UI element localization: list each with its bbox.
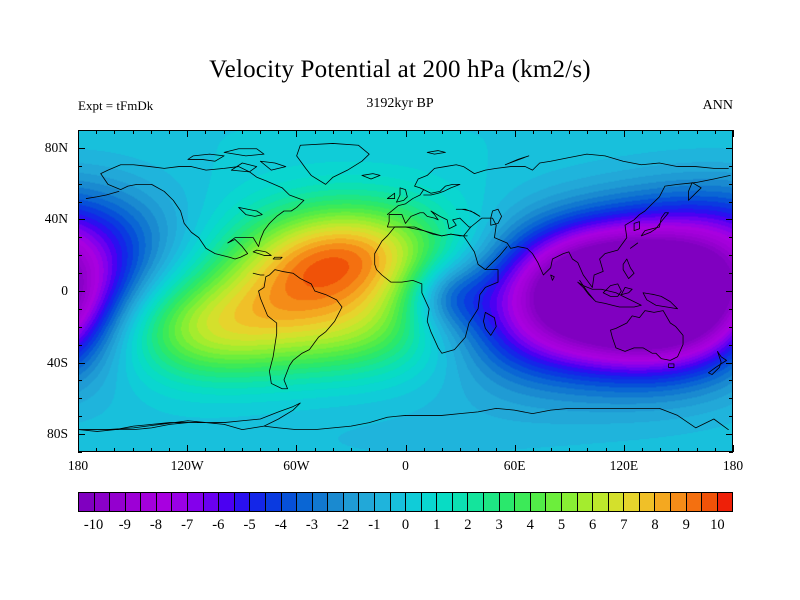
axis-tick	[78, 398, 82, 399]
axis-tick	[78, 184, 82, 185]
axis-tick	[187, 130, 188, 137]
colorbar-tick-label: 0	[402, 517, 409, 534]
axis-tick	[333, 130, 334, 134]
colorbar-cell	[671, 493, 687, 511]
x-axis-label: 60W	[283, 458, 309, 474]
axis-tick	[96, 448, 97, 452]
coastline-path	[491, 209, 502, 225]
axis-tick	[729, 416, 733, 417]
y-axis-label: 0	[16, 283, 68, 299]
coastline-path	[551, 275, 555, 280]
axis-tick	[697, 448, 698, 452]
axis-tick	[278, 448, 279, 452]
axis-tick	[697, 130, 698, 134]
coastline-path	[239, 207, 263, 216]
colorbar-cell	[687, 493, 703, 511]
colorbar-cell	[422, 493, 438, 511]
colorbar-cell	[437, 493, 453, 511]
axis-tick	[114, 130, 115, 134]
axis-tick	[569, 130, 570, 134]
x-axis-label: 180	[723, 458, 743, 474]
axis-tick	[587, 448, 588, 452]
coastline-path	[688, 183, 701, 201]
coastline-path	[273, 257, 282, 259]
coastline-path	[362, 174, 380, 179]
axis-tick	[733, 445, 734, 452]
coastline-path	[641, 213, 668, 236]
axis-tick	[387, 448, 388, 452]
coastline-path	[79, 408, 728, 429]
y-axis-label: 80N	[16, 140, 68, 156]
colorbar-tick-label: 6	[589, 517, 596, 534]
colorbar-cell	[282, 493, 298, 511]
axis-tick	[78, 202, 82, 203]
axis-tick	[78, 327, 82, 328]
axis-tick	[78, 445, 79, 452]
axis-tick	[205, 448, 206, 452]
axis-tick	[78, 363, 85, 364]
axis-tick	[114, 448, 115, 452]
axis-tick	[151, 130, 152, 134]
colorbar-cell	[406, 493, 422, 511]
axis-tick	[551, 130, 552, 134]
colorbar-cell	[515, 493, 531, 511]
axis-tick	[715, 130, 716, 134]
colorbar-cell	[79, 493, 95, 511]
colorbar-cell	[250, 493, 266, 511]
colorbar-cell	[640, 493, 656, 511]
axis-tick	[78, 309, 82, 310]
colorbar-tick-label: 9	[683, 517, 690, 534]
colorbar-cell	[655, 493, 671, 511]
colorbar-tick-label: -4	[275, 517, 287, 534]
axis-tick	[187, 445, 188, 452]
colorbar-cell	[313, 493, 329, 511]
axis-tick	[729, 166, 733, 167]
coastline-path	[630, 243, 637, 248]
axis-tick	[78, 166, 82, 167]
axis-tick	[224, 448, 225, 452]
axis-tick	[242, 130, 243, 134]
colorbar-cell	[266, 493, 282, 511]
colorbar-cell	[546, 493, 562, 511]
colorbar-cell	[609, 493, 625, 511]
axis-tick	[624, 130, 625, 137]
coastline-path	[580, 280, 594, 299]
colorbar-tick-label: -6	[212, 517, 224, 534]
colorbar-cell	[219, 493, 235, 511]
axis-tick	[606, 448, 607, 452]
colorbar-cell	[359, 493, 375, 511]
axis-tick	[78, 291, 85, 292]
axis-tick	[133, 130, 134, 134]
axis-tick	[369, 130, 370, 134]
coastline-path	[253, 250, 271, 255]
axis-tick	[678, 130, 679, 134]
coastline-path	[708, 351, 726, 374]
axis-tick	[726, 363, 733, 364]
axis-tick	[729, 380, 733, 381]
x-axis-label: 120E	[610, 458, 639, 474]
axis-tick	[351, 130, 352, 134]
axis-tick	[533, 130, 534, 134]
x-axis-label: 120W	[171, 458, 204, 474]
axis-tick	[715, 448, 716, 452]
axis-tick	[351, 448, 352, 452]
axis-tick	[442, 130, 443, 134]
x-axis-label: 180	[68, 458, 88, 474]
axis-tick	[587, 130, 588, 134]
axis-tick	[606, 130, 607, 134]
coastline-path	[101, 165, 304, 259]
axis-tick	[333, 448, 334, 452]
axis-tick	[406, 445, 407, 452]
axis-tick	[642, 130, 643, 134]
colorbar-tick-label: -5	[244, 517, 256, 534]
coastline-overlay	[79, 131, 732, 451]
map-plot-area	[78, 130, 733, 452]
axis-tick	[729, 237, 733, 238]
axis-tick	[133, 448, 134, 452]
axis-tick	[496, 448, 497, 452]
y-axis-label: 80S	[16, 426, 68, 442]
axis-tick	[551, 448, 552, 452]
colorbar-cell	[110, 493, 126, 511]
axis-tick	[515, 130, 516, 137]
colorbar-cell	[157, 493, 173, 511]
axis-tick	[729, 184, 733, 185]
colorbar-cell	[500, 493, 516, 511]
axis-tick	[515, 445, 516, 452]
coastline-path	[387, 193, 394, 198]
coastline-path	[79, 403, 300, 431]
colorbar-tick-label: -1	[368, 517, 380, 534]
season-label: ANN	[703, 98, 733, 114]
coastline-path	[253, 273, 264, 275]
axis-tick	[460, 448, 461, 452]
axis-tick	[406, 130, 407, 137]
colorbar-cell	[328, 493, 344, 511]
colorbar-tick-label: -9	[119, 517, 131, 534]
colorbar-tick-label: -7	[181, 517, 193, 534]
axis-tick	[729, 345, 733, 346]
coastline-path	[188, 154, 224, 161]
axis-tick	[205, 130, 206, 134]
colorbar-cell	[391, 493, 407, 511]
axis-tick	[624, 445, 625, 452]
axis-tick	[569, 448, 570, 452]
colorbar-tick-label: -10	[84, 517, 103, 534]
colorbar-cell	[344, 493, 360, 511]
axis-tick	[660, 448, 661, 452]
colorbar-tick-label: -8	[150, 517, 162, 534]
coastline-path	[259, 270, 342, 389]
colorbar-tick-label: -3	[306, 517, 318, 534]
axis-tick	[78, 380, 82, 381]
axis-tick	[96, 130, 97, 134]
coastline-path	[483, 312, 496, 335]
axis-tick	[78, 130, 82, 131]
axis-tick	[478, 448, 479, 452]
colorbar-cell	[562, 493, 578, 511]
axis-tick	[369, 448, 370, 452]
axis-tick	[151, 448, 152, 452]
colorbar-tick-label: 10	[710, 517, 725, 534]
colorbar-tick-label: 8	[651, 517, 658, 534]
coastline-path	[610, 311, 683, 361]
axis-tick	[726, 291, 733, 292]
axis-tick	[296, 130, 297, 137]
axis-tick	[729, 202, 733, 203]
coastline-path	[224, 149, 264, 156]
axis-tick	[729, 452, 733, 453]
axis-tick	[642, 448, 643, 452]
colorbar-tick-label: 2	[464, 517, 471, 534]
axis-tick	[296, 445, 297, 452]
coastline-path	[668, 364, 673, 368]
coastline-path	[485, 247, 507, 270]
axis-tick	[315, 130, 316, 134]
colorbar-cell	[126, 493, 142, 511]
axis-tick	[726, 219, 733, 220]
axis-tick	[478, 130, 479, 134]
axis-tick	[496, 130, 497, 134]
coastline-path	[621, 287, 632, 294]
colorbar-cell	[702, 493, 718, 511]
axis-tick	[460, 130, 461, 134]
axis-tick	[533, 448, 534, 452]
axis-tick	[729, 255, 733, 256]
axis-tick	[442, 448, 443, 452]
axis-tick	[424, 130, 425, 134]
coastline-path	[424, 184, 460, 195]
axis-tick	[242, 448, 243, 452]
axis-tick	[729, 130, 733, 131]
y-axis-label: 40N	[16, 211, 68, 227]
coastline-path	[623, 259, 634, 279]
axis-tick	[78, 434, 85, 435]
axis-tick	[260, 448, 261, 452]
axis-tick	[169, 130, 170, 134]
coastline-path	[603, 284, 621, 297]
colorbar-cell	[141, 493, 157, 511]
coastline-path	[578, 282, 642, 307]
colorbar-cell	[531, 493, 547, 511]
axis-tick	[660, 130, 661, 134]
axis-tick	[726, 148, 733, 149]
colorbar-cell	[188, 493, 204, 511]
axis-tick	[315, 448, 316, 452]
axis-tick	[78, 219, 85, 220]
colorbar-tick-label: 3	[495, 517, 502, 534]
colorbar-cell	[95, 493, 111, 511]
coastline-path	[260, 161, 285, 170]
axis-tick	[387, 130, 388, 134]
colorbar-cell	[718, 493, 733, 511]
axis-tick	[78, 345, 82, 346]
axis-tick	[729, 273, 733, 274]
colorbar-cell	[624, 493, 640, 511]
axis-tick	[726, 434, 733, 435]
axis-tick	[78, 273, 82, 274]
x-axis-label: 0	[402, 458, 409, 474]
axis-tick	[224, 130, 225, 134]
coastline-path	[375, 227, 498, 353]
colorbar-cell	[204, 493, 220, 511]
axis-tick	[78, 416, 82, 417]
axis-tick	[78, 452, 82, 453]
axis-tick	[78, 237, 82, 238]
coastline-path	[264, 415, 405, 429]
colorbar-cell	[297, 493, 313, 511]
axis-tick	[78, 148, 85, 149]
coastline-path	[643, 293, 677, 309]
axis-tick	[78, 255, 82, 256]
colorbar-cell	[172, 493, 188, 511]
colorbar-tick-label: -2	[337, 517, 349, 534]
coastline-path	[456, 209, 480, 216]
colorbar-cell	[235, 493, 251, 511]
coastline-path	[634, 222, 639, 231]
axis-tick	[733, 130, 734, 137]
colorbar-cell	[593, 493, 609, 511]
axis-tick	[260, 130, 261, 134]
chart-title: Velocity Potential at 200 hPa (km2/s)	[0, 56, 800, 84]
colorbar-cell	[578, 493, 594, 511]
axis-tick	[78, 130, 79, 137]
colorbar-cell	[453, 493, 469, 511]
coastline-path	[86, 191, 119, 198]
coastline-path	[427, 151, 445, 155]
coastline-path	[505, 156, 529, 165]
axis-tick	[424, 448, 425, 452]
coastline-path	[471, 175, 730, 287]
axis-tick	[729, 327, 733, 328]
coastline-path	[297, 143, 370, 184]
colorbar-tick-label: 5	[558, 517, 565, 534]
axis-tick	[729, 309, 733, 310]
coastline-path	[231, 163, 256, 172]
axis-tick	[729, 398, 733, 399]
colorbar-tick-label: 7	[620, 517, 627, 534]
axis-tick	[278, 130, 279, 134]
experiment-label: Expt = tFmDk	[78, 98, 153, 114]
colorbar-cell	[375, 493, 391, 511]
coastline-path	[396, 188, 407, 202]
colorbar-cell	[468, 493, 484, 511]
x-axis-label: 60E	[504, 458, 526, 474]
colorbar-cell	[484, 493, 500, 511]
colorbar-tick-label: 1	[433, 517, 440, 534]
axis-tick	[169, 448, 170, 452]
axis-tick	[678, 448, 679, 452]
colorbar	[78, 492, 733, 512]
y-axis-label: 40S	[16, 355, 68, 371]
colorbar-tick-label: 4	[527, 517, 534, 534]
